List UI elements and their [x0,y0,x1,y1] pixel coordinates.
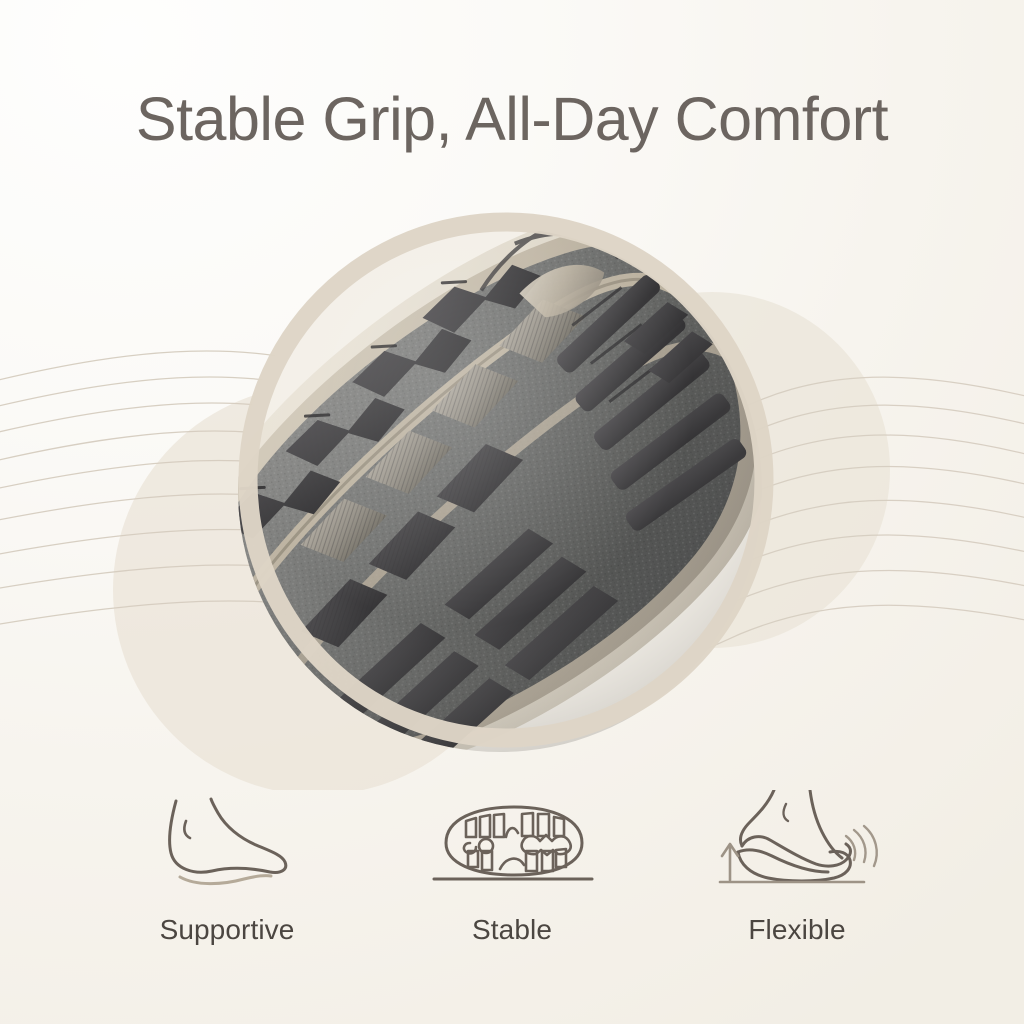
feature-label-flexible: Flexible [748,914,845,946]
feature-row: Supportive [0,790,1024,970]
outsole-tread-icon [422,790,602,895]
hero-composition [0,170,1024,790]
foot-arch-icon [152,790,302,895]
promo-graphic: Stable Grip, All-Day Comfort [0,0,1024,1024]
feature-item-stable[interactable]: Stable [370,790,655,946]
feature-item-supportive[interactable]: Supportive [85,790,370,946]
flexing-shoe-icon [712,790,882,895]
feature-item-flexible[interactable]: Flexible [655,790,940,946]
page-title: Stable Grip, All-Day Comfort [0,84,1024,154]
feature-label-supportive: Supportive [160,914,295,946]
feature-label-stable: Stable [472,914,552,946]
